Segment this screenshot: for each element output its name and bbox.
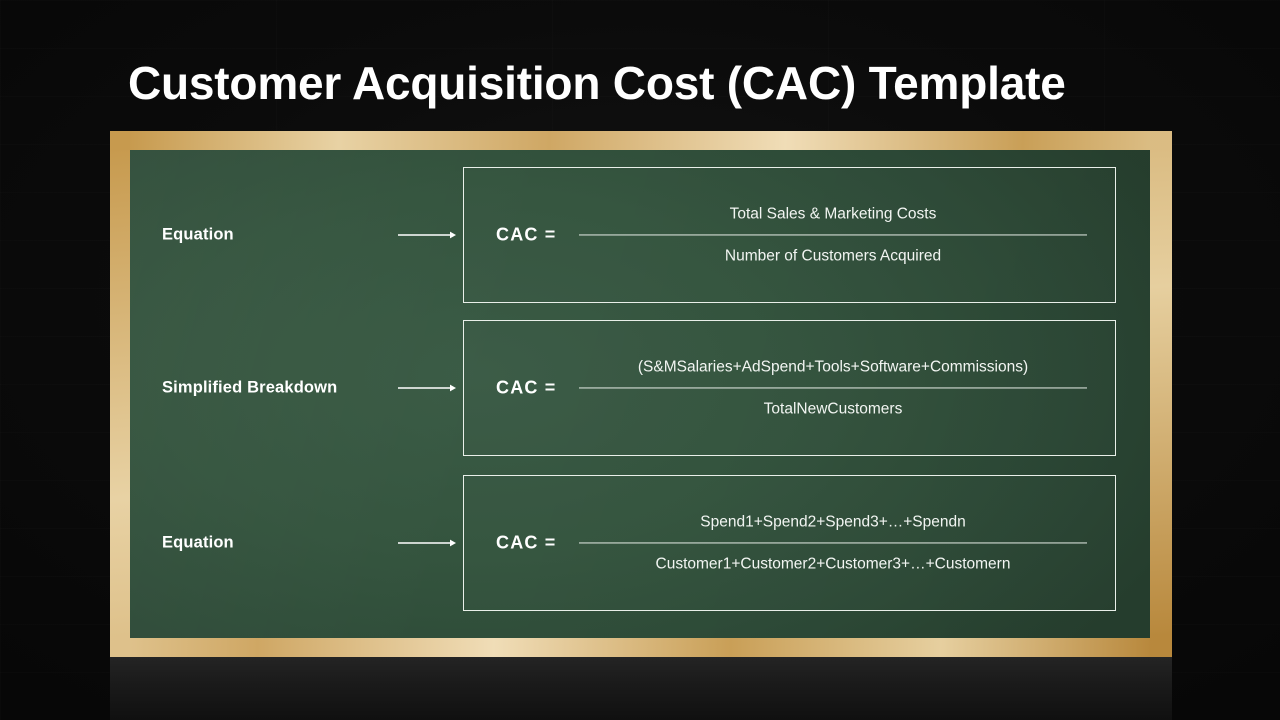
chalkboard-surface: Equation CAC = Total Sales & Marketing C… [130, 150, 1150, 638]
fraction: Total Sales & Marketing Costs Number of … [579, 205, 1087, 264]
arrow-right-icon [398, 537, 456, 549]
arrow-right-icon [398, 382, 456, 394]
formula-row: Equation CAC = Total Sales & Marketing C… [130, 167, 1150, 303]
formula-row: Equation CAC = Spend1+Spend2+Spend3+…+Sp… [130, 475, 1150, 611]
fraction-denominator: TotalNewCustomers [579, 401, 1087, 418]
fraction-bar [579, 235, 1087, 236]
fraction-bar [579, 543, 1087, 544]
row-label: Equation [162, 534, 234, 553]
fraction: Spend1+Spend2+Spend3+…+Spendn Customer1+… [579, 513, 1087, 572]
board-shelf [110, 657, 1172, 720]
formula-card: CAC = Spend1+Spend2+Spend3+…+Spendn Cust… [463, 475, 1116, 611]
fraction: (S&MSalaries+AdSpend+Tools+Software+Comm… [579, 358, 1087, 417]
fraction-numerator: Total Sales & Marketing Costs [579, 205, 1087, 222]
fraction-numerator: Spend1+Spend2+Spend3+…+Spendn [579, 513, 1087, 530]
row-label: Equation [162, 226, 234, 245]
arrow-right-icon [398, 229, 456, 241]
fraction-bar [579, 388, 1087, 389]
fraction-denominator: Customer1+Customer2+Customer3+…+Customer… [579, 556, 1087, 573]
formula-row: Simplified Breakdown CAC = (S&MSalaries+… [130, 320, 1150, 456]
formula-lhs: CAC = [496, 378, 557, 399]
formula-card: CAC = Total Sales & Marketing Costs Numb… [463, 167, 1116, 303]
row-label: Simplified Breakdown [162, 379, 337, 398]
fraction-denominator: Number of Customers Acquired [579, 248, 1087, 265]
slide-canvas: Customer Acquisition Cost (CAC) Template… [0, 0, 1280, 720]
fraction-numerator: (S&MSalaries+AdSpend+Tools+Software+Comm… [579, 358, 1087, 375]
formula-lhs: CAC = [496, 533, 557, 554]
formula-lhs: CAC = [496, 225, 557, 246]
formula-card: CAC = (S&MSalaries+AdSpend+Tools+Softwar… [463, 320, 1116, 456]
page-title: Customer Acquisition Cost (CAC) Template [128, 47, 1188, 119]
